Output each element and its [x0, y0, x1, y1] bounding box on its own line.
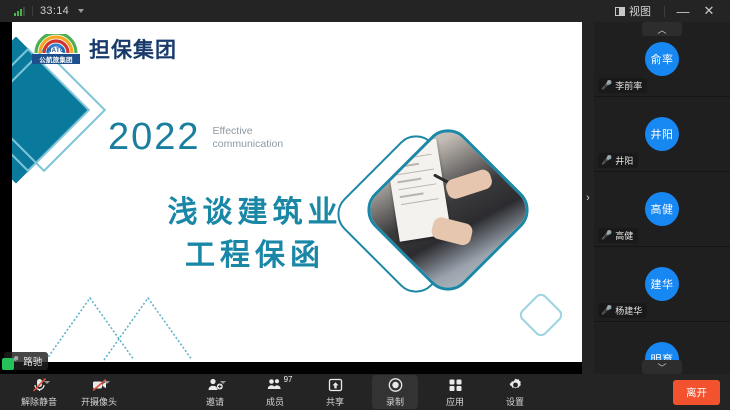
- shared-screen-stage[interactable]: HATG 公航旅集团 担保集团 2022 Effective communica…: [0, 22, 594, 374]
- share-screen-button[interactable]: 共享: [312, 375, 358, 409]
- view-button[interactable]: 视图: [607, 0, 659, 22]
- mic-muted-red-icon: 🎤: [601, 80, 612, 91]
- avatar: 建华: [645, 267, 679, 301]
- logo-cn-text: 公航旅集团: [32, 54, 80, 64]
- scroll-up-button[interactable]: ︿: [642, 22, 682, 36]
- scroll-down-button[interactable]: ﹀: [642, 360, 682, 374]
- leave-meeting-button[interactable]: 离开: [673, 380, 720, 405]
- eyebrow-line-1: Effective: [213, 125, 284, 138]
- invite-person-icon: [207, 377, 224, 393]
- mic-muted-red-icon: 🎤: [601, 155, 612, 166]
- chevron-down-icon[interactable]: [78, 9, 84, 13]
- screen-share-active-indicator: [2, 358, 14, 370]
- meeting-toolbar: 解除静音 开摄像头: [0, 374, 730, 410]
- mic-muted-icon: [31, 377, 48, 393]
- share-screen-label: 共享: [326, 395, 344, 408]
- start-video-label: 开摄像头: [81, 395, 117, 408]
- slide-year-block: 2022 Effective communication: [108, 118, 283, 156]
- slide-eyebrow: Effective communication: [213, 125, 284, 156]
- signal-strength-icon: [14, 7, 25, 16]
- slide-title-line-2: 工程保函: [140, 235, 370, 278]
- panel-divider[interactable]: ›: [582, 22, 594, 374]
- minimize-button[interactable]: —: [670, 0, 696, 22]
- apps-label: 应用: [446, 395, 464, 408]
- mic-muted-red-icon: 🎤: [601, 305, 612, 316]
- mic-options-caret[interactable]: [44, 381, 50, 384]
- participant-name: 高健: [615, 229, 633, 242]
- apps-button[interactable]: 应用: [432, 375, 478, 409]
- participant-tile[interactable]: 高健🎤高健: [594, 172, 730, 247]
- video-options-caret[interactable]: [104, 381, 110, 384]
- record-circle-icon: [387, 377, 404, 393]
- camera-off-icon: [91, 377, 108, 393]
- gear-icon: [507, 377, 524, 393]
- participants-button[interactable]: 97 成员: [252, 375, 298, 409]
- document-review-photo: [357, 119, 538, 300]
- title-bar: 33:14 视图 — ✕: [0, 0, 730, 22]
- slide-title-line-1: 浅谈建筑业: [140, 192, 370, 235]
- participant-name-tag: 🎤李前率: [598, 78, 647, 93]
- settings-button[interactable]: 设置: [492, 375, 538, 409]
- view-label: 视图: [629, 3, 651, 19]
- avatar: 井阳: [645, 117, 679, 151]
- apps-grid-icon: [447, 377, 464, 393]
- participants-label: 成员: [266, 395, 284, 408]
- slide-photo-group: [354, 144, 544, 334]
- avatar: 俞率: [645, 42, 679, 76]
- meeting-window: 33:14 视图 — ✕: [0, 0, 730, 410]
- participant-name-tag: 🎤井阳: [598, 153, 638, 168]
- participant-name-tag: 🎤高健: [598, 228, 638, 243]
- participants-icon: 97: [267, 377, 284, 393]
- invite-options-caret[interactable]: [220, 381, 226, 384]
- toolbar-center-group: 邀请 97 成员: [192, 375, 538, 409]
- eyebrow-line-2: communication: [213, 138, 284, 151]
- record-label: 录制: [386, 395, 404, 408]
- small-diamond-decoration: [517, 291, 565, 339]
- participant-name-tag: 🎤杨建华: [598, 303, 647, 318]
- avatar: 高健: [645, 192, 679, 226]
- unmute-label: 解除静音: [21, 395, 57, 408]
- hand-graphic-1: [444, 168, 494, 201]
- participant-strip[interactable]: ︿ 俞率🎤李前率井阳🎤井阳高健🎤高健建华🎤杨建华明育🎤明育 ﹀: [594, 22, 730, 374]
- presenter-name: 路驰: [23, 354, 42, 368]
- close-button[interactable]: ✕: [696, 0, 722, 22]
- presentation-slide: HATG 公航旅集团 担保集团 2022 Effective communica…: [12, 22, 582, 362]
- title-divider-2: [664, 6, 665, 17]
- participants-count: 97: [284, 375, 293, 384]
- participant-tile[interactable]: 建华🎤杨建华: [594, 247, 730, 322]
- unmute-button[interactable]: 解除静音: [16, 375, 62, 409]
- participant-name: 李前率: [615, 79, 642, 92]
- title-divider: [32, 6, 33, 16]
- rainbow-arc-logo-icon: HATG 公航旅集团: [32, 34, 80, 64]
- invite-button[interactable]: 邀请: [192, 375, 238, 409]
- start-video-button[interactable]: 开摄像头: [76, 375, 122, 409]
- participant-name: 井阳: [615, 154, 633, 167]
- layout-view-icon: [615, 7, 625, 16]
- record-button[interactable]: 录制: [372, 375, 418, 409]
- meeting-timer: 33:14: [40, 5, 69, 17]
- slide-year: 2022: [108, 118, 201, 156]
- share-screen-icon: [327, 377, 344, 393]
- slide-brand-title: 担保集团: [89, 34, 177, 64]
- slide-logo-row: HATG 公航旅集团 担保集团: [32, 34, 177, 64]
- title-bar-right: 视图 — ✕: [607, 0, 730, 22]
- collapse-panel-icon[interactable]: ›: [586, 192, 590, 204]
- participant-tile[interactable]: 井阳🎤井阳: [594, 97, 730, 172]
- invite-label: 邀请: [206, 395, 224, 408]
- settings-label: 设置: [506, 395, 524, 408]
- participant-name: 杨建华: [615, 304, 642, 317]
- title-bar-left: 33:14: [0, 5, 84, 17]
- mic-muted-red-icon: 🎤: [601, 230, 612, 241]
- slide-main-title: 浅谈建筑业 工程保函: [140, 192, 370, 277]
- hand-graphic-2: [430, 216, 474, 247]
- dotted-triangles-decoration: [42, 282, 262, 362]
- toolbar-left-group: 解除静音 开摄像头: [0, 375, 122, 409]
